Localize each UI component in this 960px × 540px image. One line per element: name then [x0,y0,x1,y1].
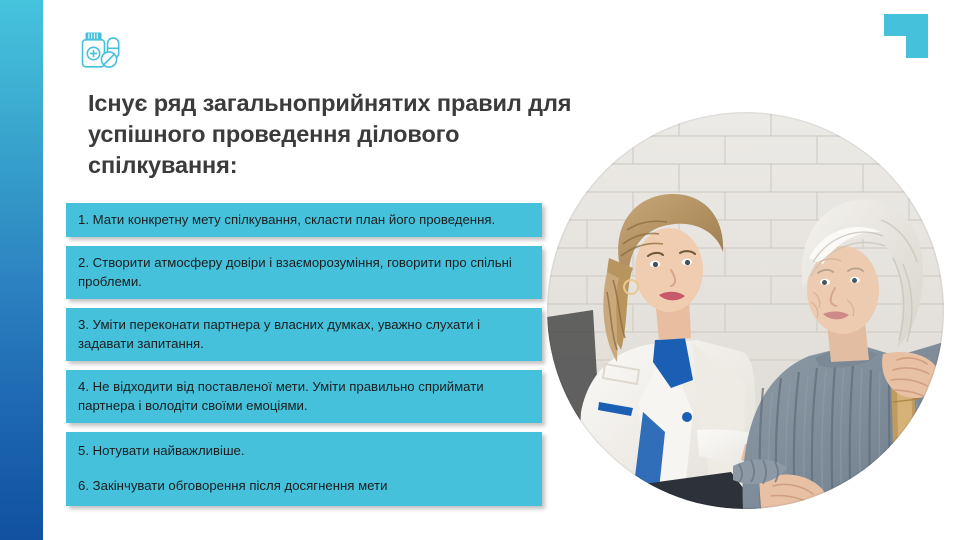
corner-accent-arm-right [906,14,928,58]
slide-canvas: Існує ряд загальноприйнятих правил для у… [0,0,960,540]
list-item-text: 6. Закінчувати обговорення після досягне… [78,476,530,495]
list-item: 3. Уміти переконати партнера у власних д… [66,308,542,361]
list-item-combined: 5. Нотувати найважливіше. 6. Закінчувати… [66,432,542,506]
rules-list: 1. Мати конкретну мету спілкування, скла… [66,203,542,515]
list-item: 4. Не відходити від поставленої мети. Ум… [66,370,542,423]
page-title: Існує ряд загальноприйнятих правил для у… [88,88,578,181]
list-item: 1. Мати конкретну мету спілкування, скла… [66,203,542,237]
left-gradient-bar [0,0,43,540]
list-item-text: 5. Нотувати найважливіше. [78,441,530,460]
list-item-text: 3. Уміти переконати партнера у власних д… [78,315,530,353]
corner-accent-shape [884,14,928,58]
photo-nurse-and-elderly-woman [547,112,944,509]
list-item-text: 1. Мати конкретну мету спілкування, скла… [78,210,530,229]
pill-bottle-icon [77,28,123,72]
list-item-text: 2. Створити атмосферу довіри і взаємороз… [78,253,530,291]
list-item-text: 4. Не відходити від поставленої мети. Ум… [78,377,530,415]
list-item: 2. Створити атмосферу довіри і взаємороз… [66,246,542,299]
